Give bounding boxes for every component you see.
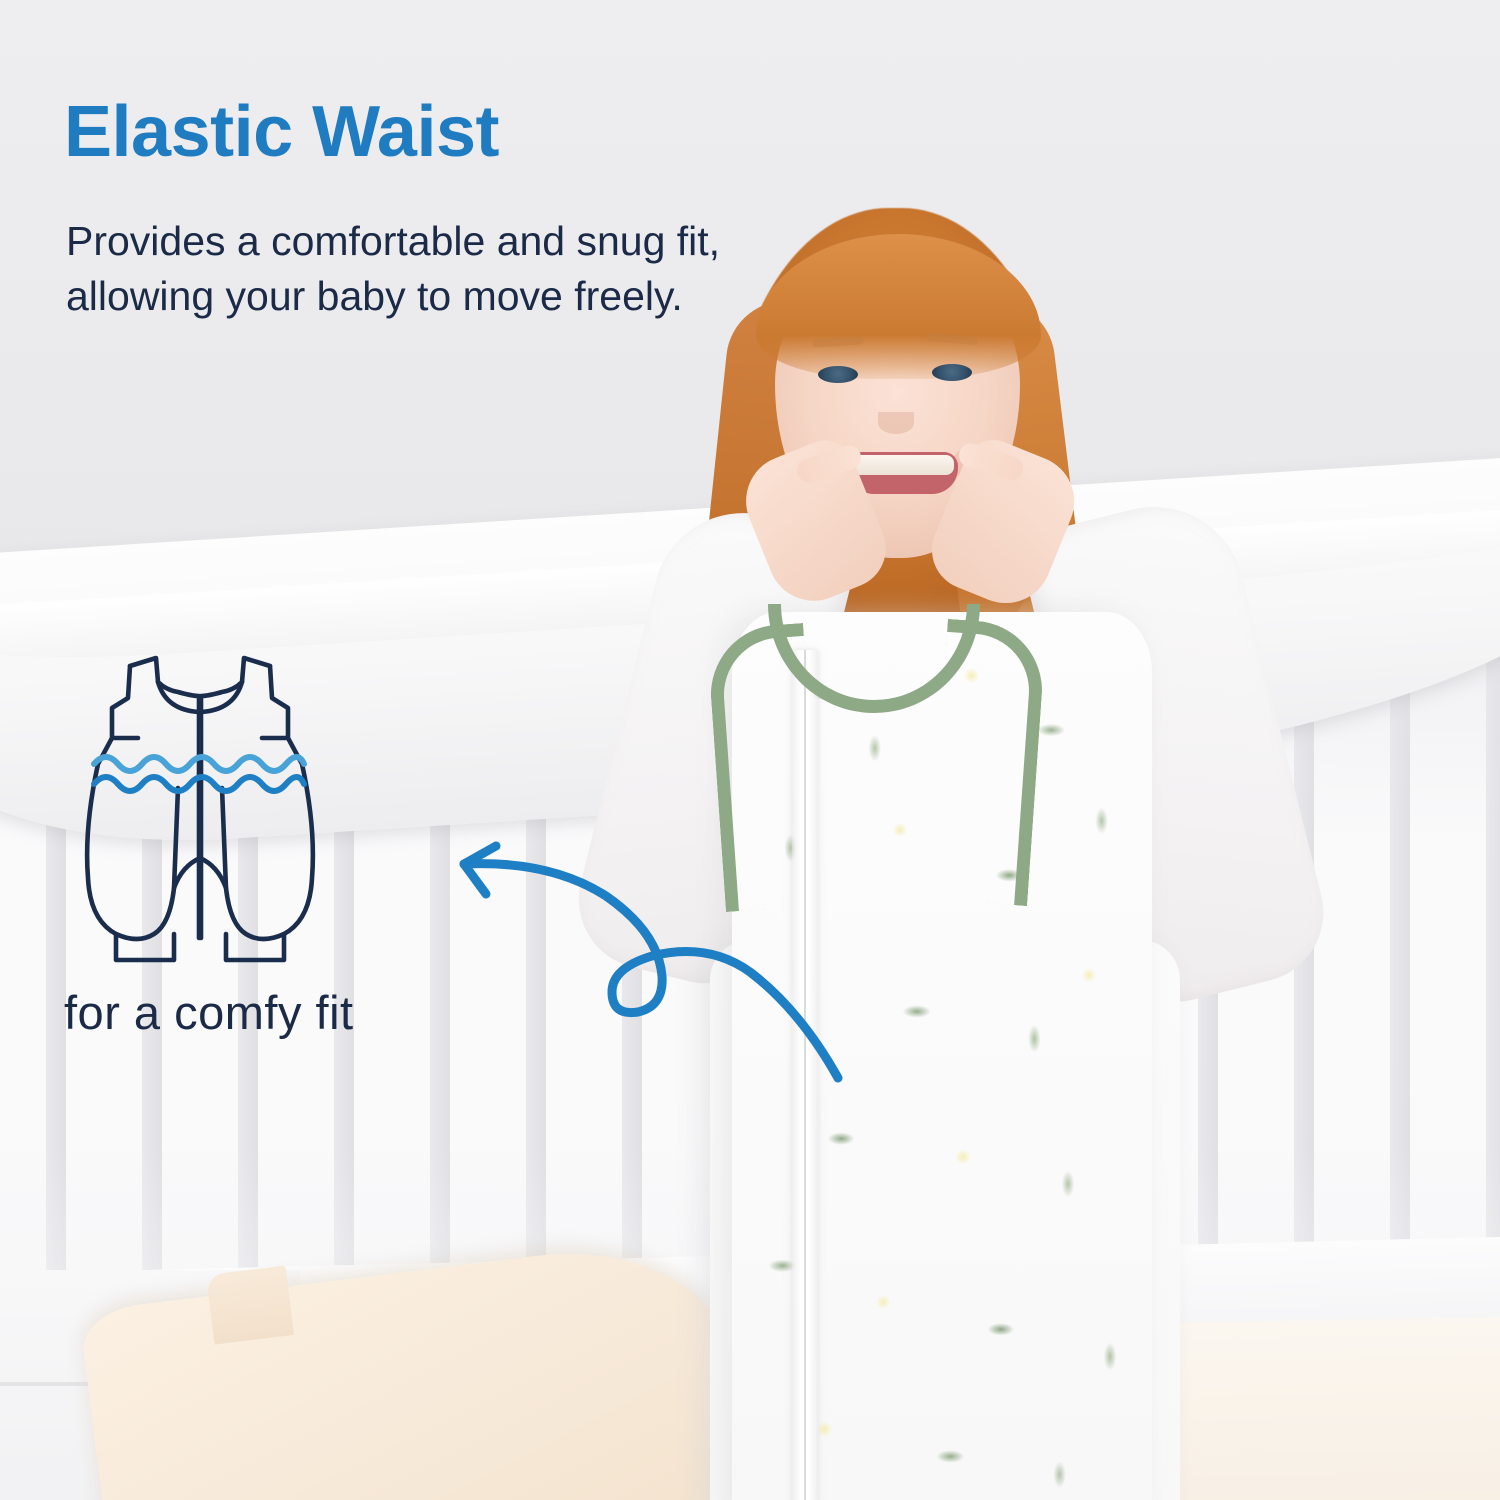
cream-pillow-corner	[206, 1265, 294, 1344]
teeth	[852, 455, 954, 475]
feature-heading: Elastic Waist	[64, 96, 499, 168]
eye-right	[932, 364, 972, 381]
eye-left	[818, 366, 858, 383]
armhole-green-trim-right	[928, 619, 1046, 906]
curved-looping-arrow	[440, 820, 880, 1110]
arrowhead-lower	[464, 864, 486, 894]
icon-caption: for a comfy fit	[64, 985, 354, 1040]
infographic-canvas: Elastic Waist Provides a comfortable and…	[0, 0, 1500, 1500]
nose	[878, 412, 914, 434]
sleep-sack-with-legs-icon	[70, 638, 330, 968]
feature-description: Provides a comfortable and snug fit, all…	[66, 214, 786, 323]
